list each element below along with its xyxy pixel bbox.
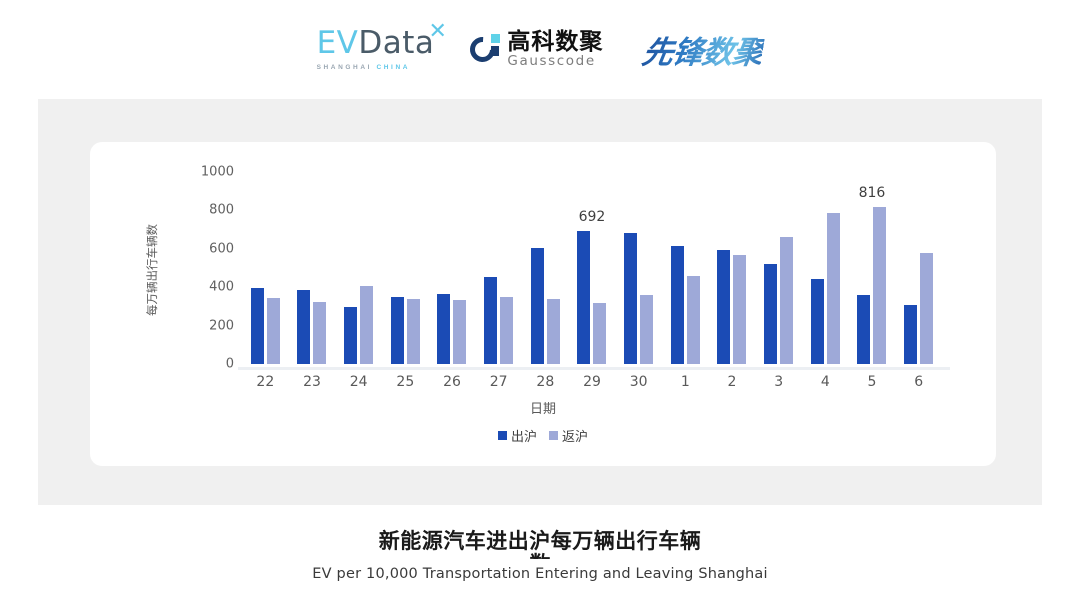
bar-返沪-4[interactable] — [827, 213, 840, 364]
bar-返沪-26[interactable] — [453, 300, 466, 365]
y-tick-1000: 1000 — [190, 165, 234, 180]
bar-group — [429, 172, 476, 364]
bar-group — [335, 172, 382, 364]
gausscode-mark-icon — [470, 34, 500, 64]
data-label-29: 692 — [579, 209, 606, 225]
x-axis-line — [238, 367, 950, 370]
bar-返沪-28[interactable] — [547, 299, 560, 364]
legend-item-返沪[interactable]: 返沪 — [549, 426, 588, 445]
caption-title-en: EV per 10,000 Transportation Entering an… — [0, 566, 1080, 582]
bar-出沪-4[interactable] — [811, 279, 824, 364]
y-axis-tick-labels: 02004006008001000 — [190, 172, 234, 364]
xianfeng-logo: 先锋数聚 — [640, 27, 767, 72]
caption-block: 新能源汽车进出沪每万辆出行车辆 数 EV per 10,000 Transpor… — [0, 528, 1080, 582]
bar-返沪-24[interactable] — [360, 286, 373, 364]
bar-group — [662, 172, 709, 364]
x-tick-26: 26 — [443, 374, 461, 390]
bar-group — [475, 172, 522, 364]
bar-group: 692 — [569, 172, 616, 364]
legend-label: 出沪 — [511, 426, 537, 445]
x-tick-5: 5 — [868, 374, 877, 390]
x-tick-22: 22 — [256, 374, 274, 390]
bar-返沪-6[interactable] — [920, 253, 933, 364]
y-tick-0: 0 — [190, 357, 234, 372]
bar-group — [242, 172, 289, 364]
evdata-data-text: Data — [358, 25, 434, 61]
y-tick-400: 400 — [190, 280, 234, 295]
bar-group: 816 — [849, 172, 896, 364]
caption-title-cn-clipped: 数 — [0, 551, 1080, 559]
bar-出沪-25[interactable] — [391, 297, 404, 364]
x-tick-3: 3 — [774, 374, 783, 390]
bar-返沪-5[interactable] — [873, 207, 886, 364]
chart-card: 每万辆出行车辆数 02004006008001000 692816 222324… — [90, 142, 996, 466]
bar-出沪-22[interactable] — [251, 288, 264, 364]
plot-area: 692816 — [242, 172, 942, 364]
x-tick-29: 29 — [583, 374, 601, 390]
bar-返沪-1[interactable] — [687, 276, 700, 364]
bar-group — [895, 172, 942, 364]
bar-返沪-30[interactable] — [640, 295, 653, 364]
bar-chart: 每万辆出行车辆数 02004006008001000 692816 222324… — [90, 142, 996, 466]
evdata-ev-text: EV — [317, 25, 359, 61]
bar-group — [615, 172, 662, 364]
bar-group — [802, 172, 849, 364]
bar-出沪-5[interactable] — [857, 295, 870, 365]
evdata-subtitle: SHANGHAI CHINA — [317, 64, 410, 71]
x-axis-title: 日期 — [90, 398, 996, 417]
bar-返沪-22[interactable] — [267, 298, 280, 364]
bar-group — [522, 172, 569, 364]
bar-group — [755, 172, 802, 364]
bar-出沪-1[interactable] — [671, 246, 684, 364]
bar-group — [382, 172, 429, 364]
gausscode-cn-text: 高科数聚 — [507, 30, 603, 54]
bar-出沪-6[interactable] — [904, 305, 917, 364]
bar-出沪-3[interactable] — [764, 264, 777, 364]
bar-返沪-23[interactable] — [313, 302, 326, 364]
gausscode-logo: 高科数聚 Gausscode — [470, 30, 603, 69]
bar-出沪-24[interactable] — [344, 307, 357, 364]
bar-返沪-25[interactable] — [407, 299, 420, 364]
slide-canvas: EVData ✕ SHANGHAI CHINA 高科数聚 Gausscode 先… — [0, 0, 1080, 608]
x-tick-4: 4 — [821, 374, 830, 390]
bar-group — [289, 172, 336, 364]
bar-出沪-28[interactable] — [531, 248, 544, 364]
bar-group — [709, 172, 756, 364]
evdata-x-icon: ✕ — [428, 21, 447, 43]
bar-返沪-29[interactable] — [593, 303, 606, 364]
y-tick-600: 600 — [190, 241, 234, 256]
data-label-5: 816 — [859, 185, 886, 201]
bar-出沪-29[interactable] — [577, 231, 590, 364]
logo-bar: EVData ✕ SHANGHAI CHINA 高科数聚 Gausscode 先… — [0, 18, 1080, 80]
x-tick-25: 25 — [396, 374, 414, 390]
x-tick-24: 24 — [350, 374, 368, 390]
bar-返沪-3[interactable] — [780, 237, 793, 364]
evdata-logo: EVData ✕ SHANGHAI CHINA — [317, 28, 435, 71]
bar-出沪-27[interactable] — [484, 277, 497, 364]
evdata-sub-city: SHANGHAI — [317, 64, 372, 71]
evdata-sub-country: CHINA — [376, 64, 410, 71]
x-tick-30: 30 — [630, 374, 648, 390]
x-tick-27: 27 — [490, 374, 508, 390]
bar-出沪-23[interactable] — [297, 290, 310, 364]
y-tick-200: 200 — [190, 318, 234, 333]
legend-item-出沪[interactable]: 出沪 — [498, 426, 537, 445]
bar-返沪-2[interactable] — [733, 255, 746, 364]
x-tick-23: 23 — [303, 374, 321, 390]
gausscode-en-text: Gausscode — [507, 54, 603, 69]
legend-swatch-icon — [549, 431, 558, 440]
bar-出沪-26[interactable] — [437, 294, 450, 364]
x-tick-1: 1 — [681, 374, 690, 390]
y-tick-800: 800 — [190, 203, 234, 218]
evdata-wordmark: EVData ✕ — [317, 28, 435, 59]
x-tick-2: 2 — [728, 374, 737, 390]
x-tick-28: 28 — [536, 374, 554, 390]
bar-出沪-30[interactable] — [624, 233, 637, 364]
chart-legend: 出沪返沪 — [90, 426, 996, 445]
bar-出沪-2[interactable] — [717, 250, 730, 364]
legend-label: 返沪 — [562, 426, 588, 445]
x-axis-tick-labels: 222324252627282930123456 — [242, 374, 942, 396]
x-tick-6: 6 — [914, 374, 923, 390]
y-axis-title: 每万辆出行车辆数 — [144, 200, 160, 340]
legend-swatch-icon — [498, 431, 507, 440]
bar-返沪-27[interactable] — [500, 297, 513, 364]
